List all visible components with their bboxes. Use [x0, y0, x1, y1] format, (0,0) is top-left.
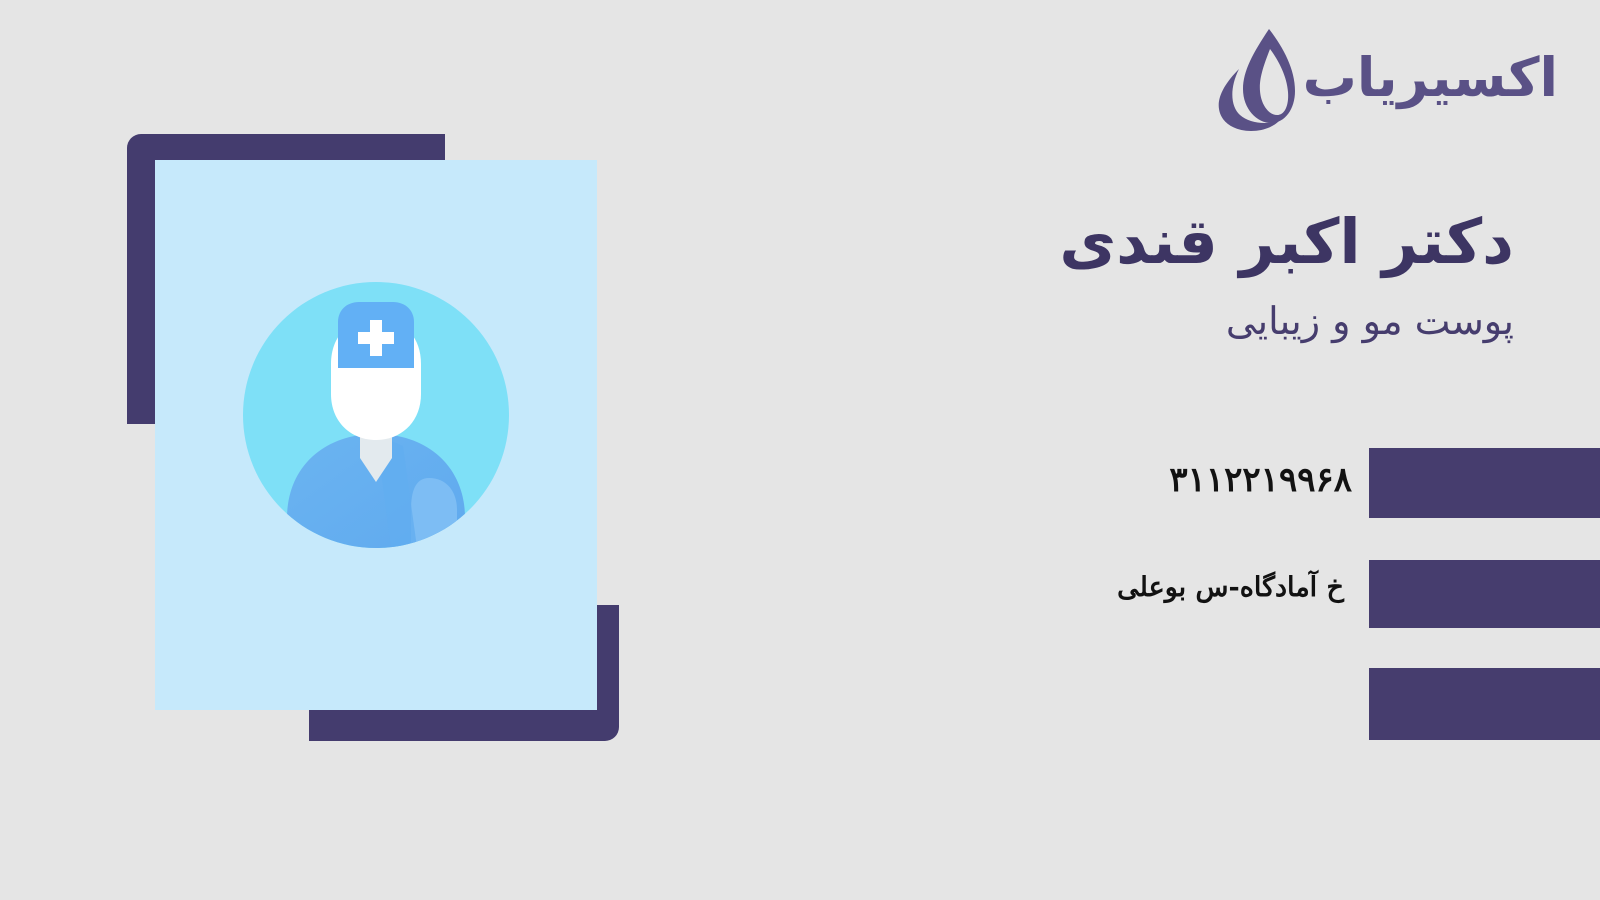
- decorative-bar-1: [1369, 448, 1600, 518]
- flame-droplet-icon: [1213, 27, 1297, 135]
- decorative-bar-3: [1369, 668, 1600, 740]
- business-card-canvas: اکسیریاب: [0, 0, 1600, 900]
- doctor-specialty: پوست مو و زیبایی: [874, 297, 1514, 346]
- doctor-info: دکتر اکبر قندی پوست مو و زیبایی: [874, 206, 1514, 347]
- decorative-bar-2: [1369, 560, 1600, 628]
- brand-logo[interactable]: اکسیریاب: [1213, 26, 1558, 136]
- contact-section: ۳۱۱۲۲۱۹۹۶۸ خ آمادگاه-س بوعلی: [0, 440, 1600, 760]
- brand-wordmark: اکسیریاب: [1303, 51, 1558, 111]
- doctor-name: دکتر اکبر قندی: [874, 206, 1514, 277]
- address-line: خ آمادگاه-س بوعلی: [1117, 572, 1344, 603]
- phone-number[interactable]: ۳۱۱۲۲۱۹۹۶۸: [1169, 460, 1352, 500]
